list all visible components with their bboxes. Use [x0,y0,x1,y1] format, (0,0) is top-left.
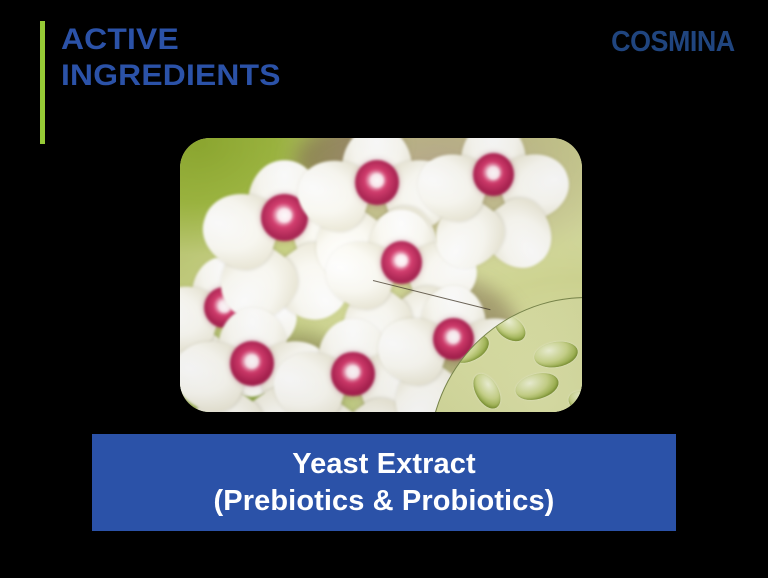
brand-logo: COSMINA [611,26,735,57]
slide-root: ACTIVE INGREDIENTS COSMINA [0,0,768,578]
page-title-line-1: ACTIVE [61,22,591,58]
page-title-line-2: INGREDIENTS [61,58,591,94]
hoya-flower [433,138,554,237]
green-accent-bar [40,21,45,144]
ingredient-photo [180,138,582,412]
caption-line-2: (Prebiotics & Probiotics) [214,483,555,520]
caption-line-1: Yeast Extract [292,446,475,483]
photo-canvas [180,138,582,412]
page-title: ACTIVE INGREDIENTS [61,22,561,94]
ingredient-caption-box: Yeast Extract (Prebiotics & Probiotics) [92,434,676,531]
